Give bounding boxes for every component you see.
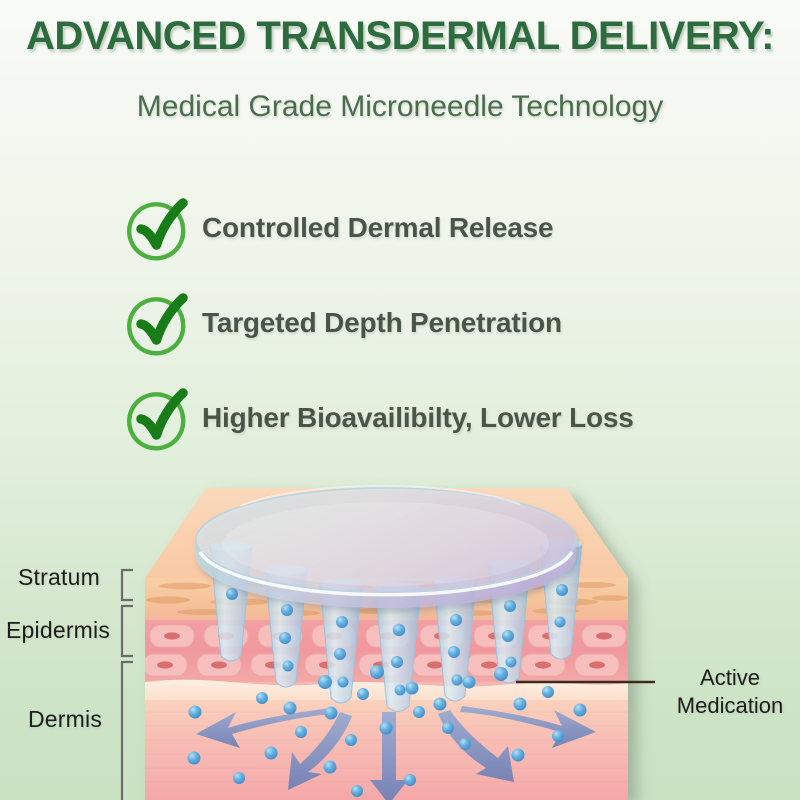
poster-root: ADVANCED TRANSDERMAL DELIVERY: Medical G…	[0, 0, 800, 800]
benefits-list: Controlled Dermal Release Targeted Depth…	[128, 196, 728, 481]
bracket-stratum	[122, 570, 133, 600]
bracket-dermis	[122, 662, 133, 800]
page-subtitle: Medical Grade Microneedle Technology	[0, 90, 800, 124]
skin-diagram	[0, 460, 800, 800]
benefit-item: Controlled Dermal Release	[128, 196, 728, 260]
layer-brackets	[122, 570, 133, 800]
benefit-item: Higher Bioavailibilty, Lower Loss	[128, 386, 728, 450]
layer-label-stratum: Stratum	[18, 564, 100, 591]
callout-line-1: Active	[668, 664, 792, 692]
layer-label-dermis: Dermis	[28, 706, 102, 733]
benefit-item: Targeted Depth Penetration	[128, 291, 728, 355]
layer-label-epidermis: Epidermis	[6, 617, 110, 644]
bracket-epidermis	[122, 606, 133, 656]
check-circle-icon	[128, 292, 190, 354]
check-circle-icon	[128, 197, 190, 259]
page-title: ADVANCED TRANSDERMAL DELIVERY:	[0, 14, 800, 59]
microneedle-patch	[196, 486, 576, 608]
callout-active-medication: Active Medication	[668, 664, 792, 719]
benefit-label: Targeted Depth Penetration	[202, 307, 562, 339]
check-circle-icon	[128, 387, 190, 449]
callout-line-2: Medication	[668, 692, 792, 720]
benefit-label: Controlled Dermal Release	[202, 212, 553, 244]
benefit-label: Higher Bioavailibilty, Lower Loss	[202, 402, 634, 434]
